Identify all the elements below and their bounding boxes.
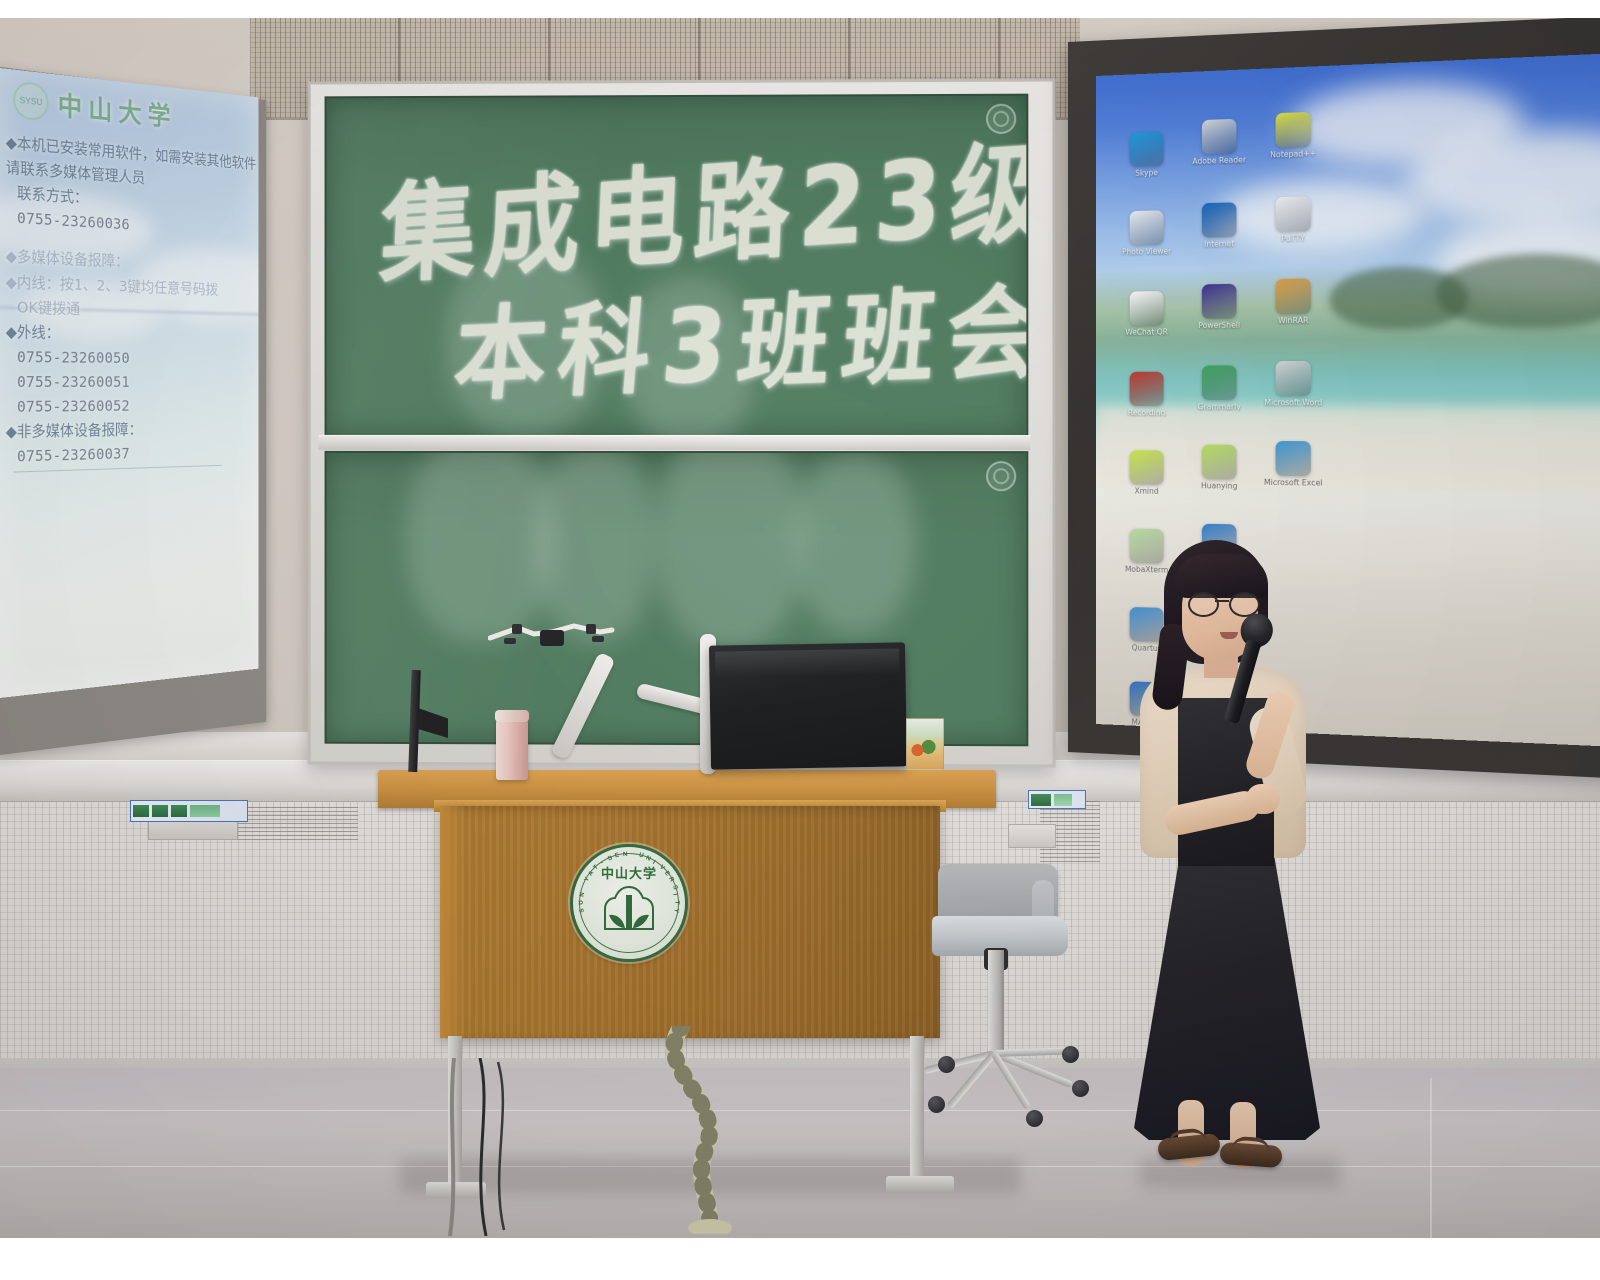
desktop-icon-label: Skype (1110, 167, 1184, 179)
chair-caster (1062, 1046, 1079, 1063)
desktop-icon-label: WeChat QR (1110, 327, 1184, 337)
notice-line: ◆外线： (6, 320, 250, 348)
desktop-icon-huanying[interactable] (1202, 445, 1237, 480)
desktop-icon-powershell[interactable] (1202, 284, 1237, 319)
chair-caster (1026, 1110, 1043, 1127)
thermos-bottle[interactable] (496, 718, 528, 780)
podium-foot (886, 1176, 954, 1192)
chair-spoke (994, 1047, 1070, 1057)
desktop-icon-microsoft-excel[interactable] (1276, 441, 1311, 476)
presenter-sandal (1219, 1142, 1282, 1168)
org-name: 中山大学 (58, 84, 177, 134)
desktop-icon-wechat-qr[interactable] (1130, 291, 1164, 326)
desktop-icon-label: Recording (1110, 408, 1184, 418)
desktop-icon-label: PuTTY (1255, 233, 1332, 244)
wall-plate-right (1008, 824, 1056, 848)
floor-seam (1430, 1078, 1432, 1238)
desktop-icon-label: Microsoft Word (1255, 398, 1332, 408)
desktop-icon-photo-viewer[interactable] (1130, 210, 1164, 245)
chair-caster (938, 1056, 955, 1073)
podium-bevel (440, 806, 466, 1038)
letterbox-bottom (0, 1238, 1600, 1280)
floor-cables (420, 1058, 560, 1238)
document-camera (488, 622, 616, 652)
left-screen-logo: SYSU 中山大学 (13, 79, 176, 133)
desktop-icon-label: Huanying (1182, 481, 1257, 491)
equipment-label-right (1028, 790, 1086, 809)
presenter-skirt (1134, 840, 1320, 1140)
desktop-icon-recording[interactable] (1130, 372, 1164, 406)
desktop-icon-winrar[interactable] (1276, 279, 1311, 314)
photo-canvas: SYSU 中山大学 ◆本机已安装常用软件，如需安装其他软件 请联系多媒体管理人员… (0, 18, 1600, 1238)
podium-leg (910, 1036, 924, 1178)
desktop-icon-notepad-[interactable] (1276, 112, 1311, 148)
podium-front-panel (440, 806, 940, 1038)
chalkboard-heading-line2: 本科3班班会 (450, 250, 1029, 421)
desktop-icon-internet[interactable] (1202, 202, 1237, 237)
wall-grille-left (238, 806, 358, 840)
desktop-icon-label: WinRAR (1255, 315, 1332, 325)
equipment-label-left (130, 800, 248, 822)
desktop-icon-label: Notepad++ (1255, 148, 1332, 160)
desktop-icon-label: PowerShell (1182, 320, 1257, 330)
screenshot-root: SYSU 中山大学 ◆本机已安装常用软件，如需安装其他软件 请联系多媒体管理人员… (0, 0, 1600, 1280)
presenter-left-hand (1246, 784, 1280, 814)
chalkboard-frame: 集成电路23级 本科3班班会 (308, 79, 1056, 768)
notice-phone: 0755-23260050 (6, 345, 250, 371)
left-screen-text-block: ◆本机已安装常用软件，如需安装其他软件 请联系多媒体管理人员 联系方式： 075… (6, 131, 250, 471)
desktop-icon-label: Microsoft Excel (1255, 478, 1332, 488)
desktop-icon-grammarly[interactable] (1202, 365, 1237, 400)
desktop-icon-label: Adobe Reader (1182, 155, 1257, 167)
desktop-icon-label: Photo Viewer (1110, 246, 1184, 257)
notice-phone: 0755-23260052 (6, 394, 250, 420)
emblem-org-en: SUN YAT-SEN UNIVERSITY (573, 847, 685, 959)
juice-carton[interactable] (906, 718, 944, 770)
desktop-icon-xmind[interactable] (1130, 450, 1164, 485)
presenter[interactable] (1112, 540, 1342, 1180)
cable-snake-cover (630, 1026, 750, 1234)
desktop-icon-putty[interactable] (1276, 196, 1311, 232)
chair-caster (928, 1096, 945, 1113)
letterbox-top (0, 0, 1600, 18)
lecture-podium[interactable]: 中山大学 SUN YAT-SEN UNIVERSITY (378, 770, 996, 1070)
chalkboard-divider (319, 435, 1031, 450)
school-seal-icon: SYSU (13, 80, 48, 121)
desktop-icon-label: Internet (1182, 239, 1257, 250)
school-seal-watermark (986, 461, 1016, 491)
desktop-icon-skype[interactable] (1130, 132, 1164, 167)
desktop-icon-adobe-reader[interactable] (1202, 119, 1237, 155)
office-chair[interactable] (932, 864, 1082, 1176)
desktop-icon-microsoft-word[interactable] (1276, 361, 1311, 396)
chalkboard-panel-top[interactable]: 集成电路23级 本科3班班会 (325, 94, 1029, 437)
chair-caster (1072, 1080, 1089, 1097)
left-projection-screen[interactable]: SYSU 中山大学 ◆本机已安装常用软件，如需安装其他软件 请联系多媒体管理人员… (0, 68, 259, 698)
sysu-emblem: 中山大学 SUN YAT-SEN UNIVERSITY (570, 844, 688, 962)
notice-phone: 0755-23260051 (6, 370, 250, 395)
desktop-monitor[interactable] (709, 642, 907, 769)
chair-post (988, 950, 1004, 1054)
desktop-icon-label: Xmind (1110, 486, 1184, 496)
desktop-icon-label: Grammarly (1182, 402, 1257, 412)
